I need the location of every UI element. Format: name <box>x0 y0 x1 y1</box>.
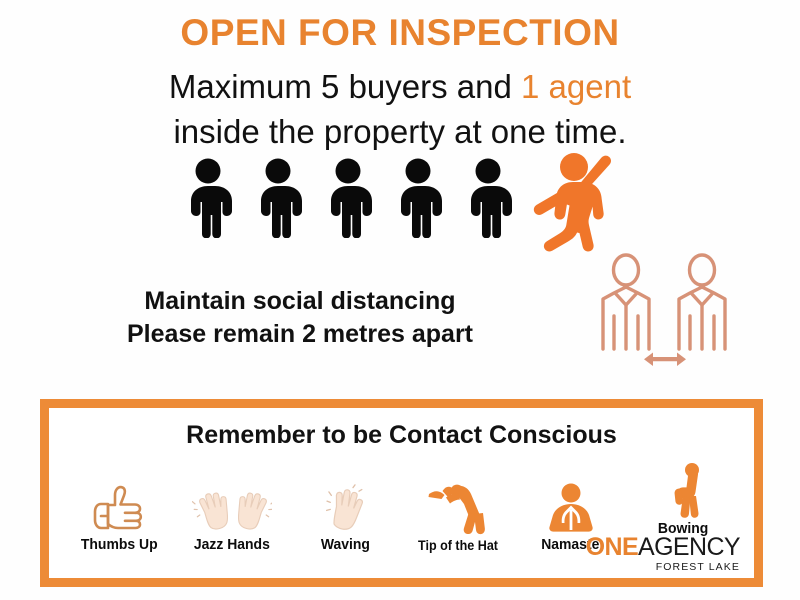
gesture-art <box>192 480 272 534</box>
occupancy-figure-row <box>176 148 596 238</box>
gesture-label: Tip of the Hat <box>418 538 498 553</box>
social-distancing-line-1: Maintain social distancing <box>20 285 580 318</box>
buyer-figure-icon <box>386 158 450 238</box>
gesture-item-thumbs-up: Thumbs Up <box>63 480 175 553</box>
gesture-label: Thumbs Up <box>81 536 158 553</box>
buyer-figure-icon <box>246 158 310 238</box>
occupancy-agent-accent: 1 agent <box>521 68 631 105</box>
gesture-item-waving: Waving <box>289 480 401 553</box>
logo-agency-text: AGENCY <box>638 533 740 561</box>
gesture-label: Waving <box>321 536 370 553</box>
bowing-icon <box>662 462 706 518</box>
gesture-item-jazz-hands: Jazz Hands <box>176 480 288 553</box>
poster-canvas: OPEN FOR INSPECTION Maximum 5 buyers and… <box>0 0 800 600</box>
tip-of-hat-icon <box>427 480 489 536</box>
buyer-figure-icon <box>176 158 240 238</box>
social-distancing-text: Maintain social distancing Please remain… <box>20 285 580 351</box>
gesture-art <box>92 480 146 534</box>
gesture-art <box>662 464 706 518</box>
buyer-figure-icon <box>316 158 380 238</box>
gesture-art <box>319 480 371 534</box>
gesture-art <box>542 480 600 534</box>
page-title: OPEN FOR INSPECTION <box>0 12 800 54</box>
namaste-icon <box>542 482 600 534</box>
gesture-art <box>427 482 489 536</box>
jazz-hands-icon <box>192 484 272 534</box>
two-metre-distance-icon <box>592 248 742 368</box>
waving-hand-icon <box>319 484 371 534</box>
agent-figure-icon <box>526 148 618 252</box>
logo-wordmark: ONEAGENCY <box>586 535 740 560</box>
buyer-figure-icon <box>456 158 520 238</box>
contact-conscious-panel: Remember to be Contact Conscious Thumbs … <box>40 399 763 587</box>
thumbs-up-icon <box>92 484 146 534</box>
brand-logo: ONEAGENCY FOREST LAKE <box>586 535 740 573</box>
gesture-label: Jazz Hands <box>194 536 270 553</box>
occupancy-line-1-prefix: Maximum 5 buyers and <box>169 68 521 105</box>
occupancy-line-1: Maximum 5 buyers and 1 agent <box>0 64 800 109</box>
occupancy-statement: Maximum 5 buyers and 1 agent inside the … <box>0 64 800 154</box>
logo-one-text: ONE <box>586 533 638 561</box>
logo-tagline: FOREST LAKE <box>586 562 740 573</box>
gesture-item-tip-of-the-hat: Tip of the Hat <box>402 482 514 553</box>
social-distancing-line-2: Please remain 2 metres apart <box>20 318 580 351</box>
panel-title: Remember to be Contact Conscious <box>49 421 754 450</box>
gesture-item-bowing: Bowing <box>628 464 740 537</box>
